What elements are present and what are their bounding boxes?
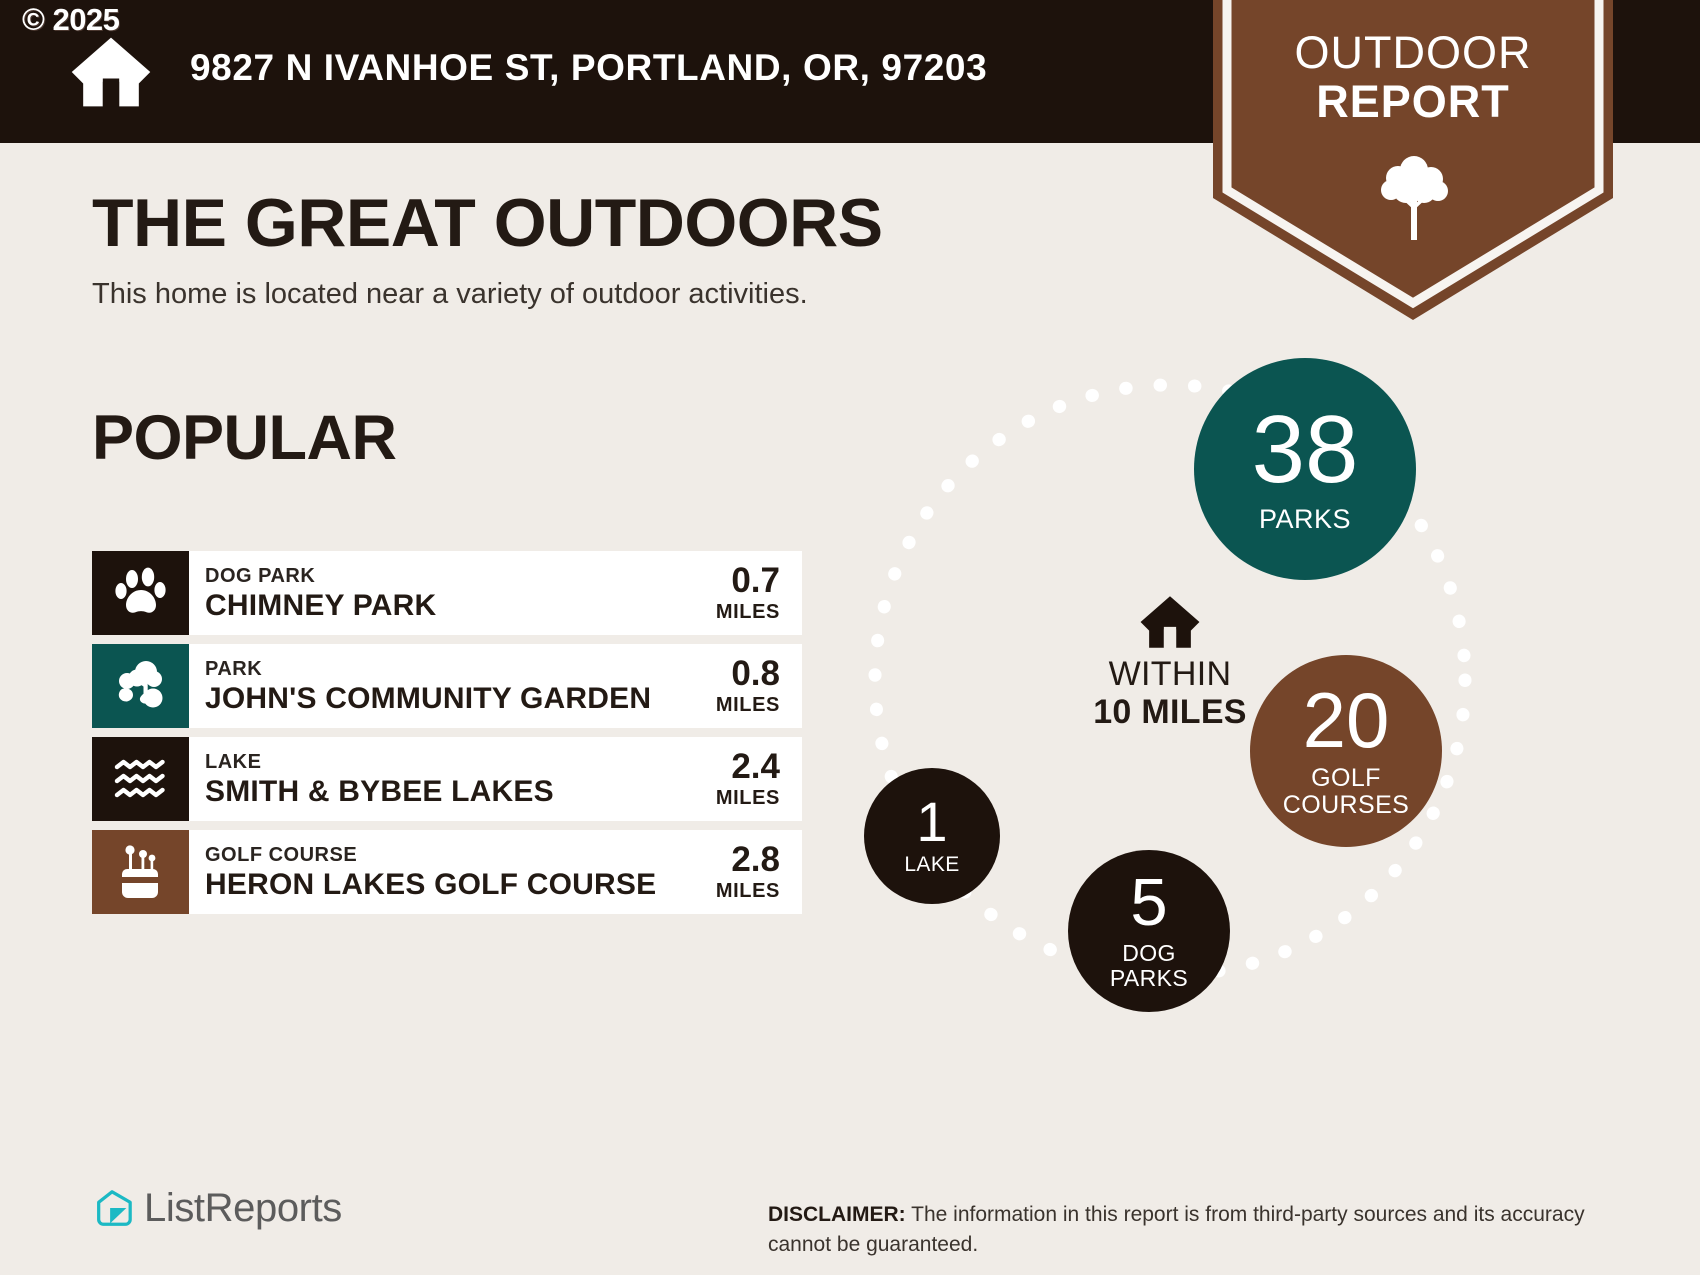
list-item-name: CHIMNEY PARK bbox=[205, 589, 436, 622]
list-item-name: HERON LAKES GOLF COURSE bbox=[205, 868, 656, 901]
list-item-icon-box bbox=[92, 830, 189, 914]
outdoor-report-page: © 2025 9827 N IVANHOE ST, PORTLAND, OR, … bbox=[0, 0, 1700, 1275]
outdoor-report-badge: OUTDOOR REPORT bbox=[1213, 0, 1613, 320]
center-label-line1: WITHIN bbox=[1030, 655, 1310, 693]
distance-value: 2.4 bbox=[731, 749, 780, 784]
distance-value: 0.7 bbox=[731, 563, 780, 598]
home-icon bbox=[70, 36, 152, 108]
list-item-body: LAKE SMITH & BYBEE LAKES 2.4 MILES bbox=[189, 737, 802, 821]
tree-icon bbox=[1379, 152, 1449, 242]
copyright-label: © 2025 bbox=[22, 2, 119, 38]
list-item-name: SMITH & BYBEE LAKES bbox=[205, 775, 554, 808]
water-waves-icon bbox=[113, 759, 169, 799]
diagram-center-label: WITHIN 10 MILES bbox=[1030, 595, 1310, 731]
paw-print-icon bbox=[114, 566, 168, 620]
distance-unit: MILES bbox=[716, 880, 780, 903]
bubble-label: LAKE bbox=[904, 854, 959, 877]
bubble-value: 20 bbox=[1303, 683, 1390, 757]
page-title: THE GREAT OUTDOORS bbox=[92, 184, 883, 262]
list-item-category: GOLF COURSE bbox=[205, 843, 656, 868]
list-item[interactable]: GOLF COURSE HERON LAKES GOLF COURSE 2.8 … bbox=[92, 830, 802, 914]
bubble-value: 1 bbox=[916, 795, 947, 848]
list-item-body: PARK JOHN'S COMMUNITY GARDEN 0.8 MILES bbox=[189, 644, 802, 728]
list-item-distance: 2.4 MILES bbox=[716, 749, 802, 810]
listreports-logo-text: ListReports bbox=[144, 1186, 342, 1231]
bubble-label-line2: PARKS bbox=[1110, 966, 1188, 991]
distance-unit: MILES bbox=[716, 601, 780, 624]
list-item-icon-box bbox=[92, 737, 189, 821]
tree-bushes-icon bbox=[113, 658, 169, 714]
bubble-label-line1: GOLF bbox=[1283, 765, 1409, 792]
bubble-dog-parks: 5 DOG PARKS bbox=[1068, 850, 1230, 1012]
list-item-icon-box bbox=[92, 551, 189, 635]
bubble-label: DOG PARKS bbox=[1110, 941, 1188, 991]
badge-text-group: OUTDOOR REPORT bbox=[1213, 30, 1613, 124]
disclaimer-label: DISCLAIMER: bbox=[768, 1203, 906, 1226]
list-item-distance: 0.8 MILES bbox=[716, 656, 802, 717]
list-item-distance: 0.7 MILES bbox=[716, 563, 802, 624]
within-10-miles-diagram: 38 PARKS 20 GOLF COURSES 5 DOG PARKS 1 L… bbox=[820, 330, 1520, 1030]
popular-section-title: POPULAR bbox=[92, 402, 397, 474]
list-item-category: DOG PARK bbox=[205, 564, 436, 589]
list-item-name: JOHN'S COMMUNITY GARDEN bbox=[205, 682, 651, 715]
list-item[interactable]: DOG PARK CHIMNEY PARK 0.7 MILES bbox=[92, 551, 802, 635]
bubble-label-line1: DOG bbox=[1110, 941, 1188, 966]
list-item-icon-box bbox=[92, 644, 189, 728]
disclaimer: DISCLAIMER: The information in this repo… bbox=[768, 1200, 1648, 1260]
distance-unit: MILES bbox=[716, 694, 780, 717]
home-icon bbox=[1139, 595, 1201, 649]
bubble-label-line2: COURSES bbox=[1283, 792, 1409, 819]
bubble-value: 5 bbox=[1130, 871, 1167, 935]
list-item[interactable]: PARK JOHN'S COMMUNITY GARDEN 0.8 MILES bbox=[92, 644, 802, 728]
distance-unit: MILES bbox=[716, 787, 780, 810]
list-item-body: DOG PARK CHIMNEY PARK 0.7 MILES bbox=[189, 551, 802, 635]
bubble-parks: 38 PARKS bbox=[1194, 358, 1416, 580]
badge-line-2: REPORT bbox=[1213, 79, 1613, 124]
list-item-category: PARK bbox=[205, 657, 651, 682]
bubble-lake: 1 LAKE bbox=[864, 768, 1000, 904]
list-item-distance: 2.8 MILES bbox=[716, 842, 802, 903]
popular-list: DOG PARK CHIMNEY PARK 0.7 MILES bbox=[92, 551, 802, 923]
bubble-value: 38 bbox=[1252, 404, 1359, 495]
property-address: 9827 N IVANHOE ST, PORTLAND, OR, 97203 bbox=[190, 47, 987, 89]
list-item-body: GOLF COURSE HERON LAKES GOLF COURSE 2.8 … bbox=[189, 830, 802, 914]
list-item[interactable]: LAKE SMITH & BYBEE LAKES 2.4 MILES bbox=[92, 737, 802, 821]
badge-line-1: OUTDOOR bbox=[1213, 30, 1613, 75]
bubble-label: PARKS bbox=[1259, 505, 1351, 534]
center-label-line2: 10 MILES bbox=[1030, 693, 1310, 731]
bubble-label: GOLF COURSES bbox=[1283, 765, 1409, 819]
list-item-category: LAKE bbox=[205, 750, 554, 775]
listreports-logo[interactable]: ListReports bbox=[92, 1186, 342, 1231]
distance-value: 0.8 bbox=[731, 656, 780, 691]
golf-bag-icon bbox=[116, 844, 166, 900]
distance-value: 2.8 bbox=[731, 842, 780, 877]
listreports-house-icon bbox=[92, 1188, 134, 1230]
page-subtitle: This home is located near a variety of o… bbox=[92, 278, 808, 311]
